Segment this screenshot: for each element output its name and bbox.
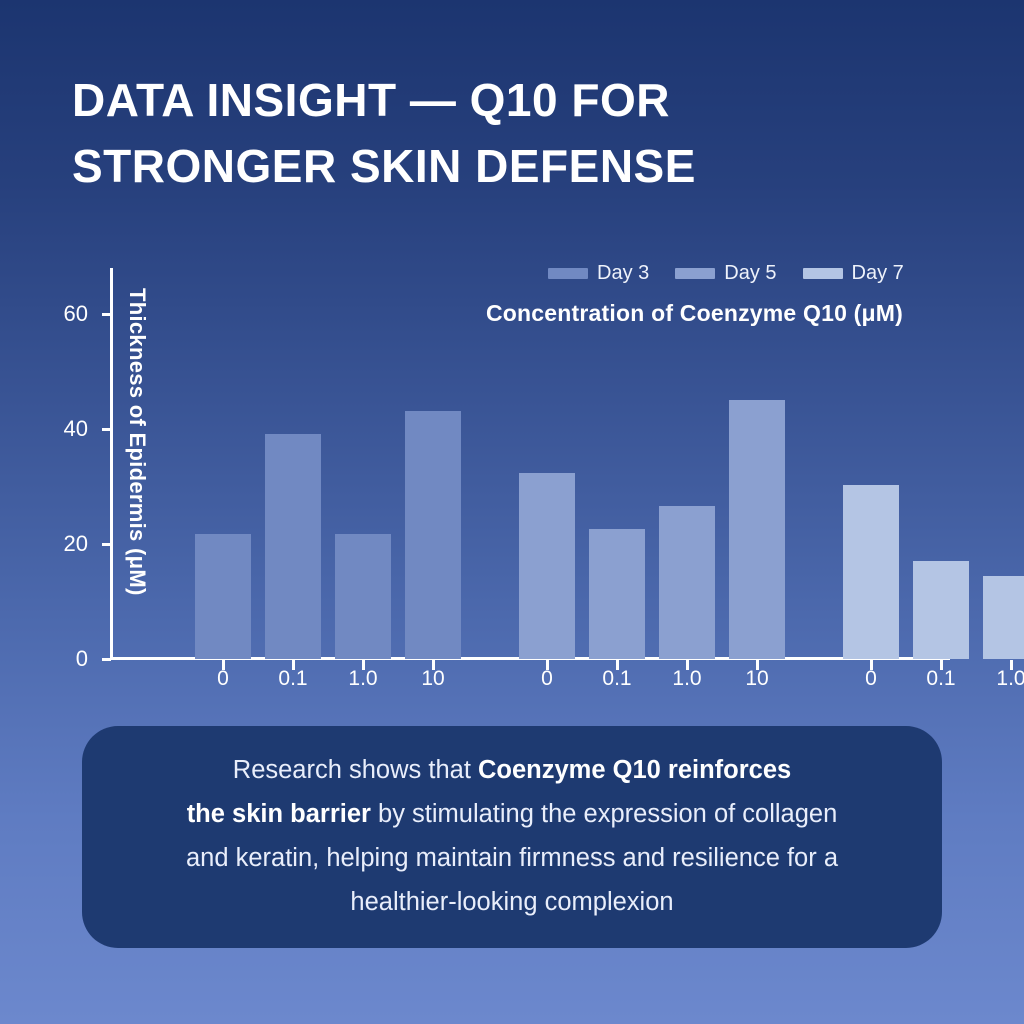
x-tick-label: 0.1 (906, 668, 976, 689)
bar-day5-0.1 (589, 529, 645, 659)
y-tick-mark (102, 428, 111, 431)
caption-text-2b: by stimulating the expression of collage… (371, 800, 837, 828)
x-tick-mark (1010, 660, 1013, 670)
bar-day5-10 (729, 400, 785, 659)
bar-day7-0 (843, 485, 899, 659)
x-tick-mark (546, 660, 549, 670)
caption-text-1b: Coenzyme Q10 reinforces (478, 756, 791, 784)
caption-line-3: and keratin, helping maintain firmness a… (186, 837, 838, 881)
x-axis-line (110, 657, 950, 660)
x-tick-mark (222, 660, 225, 670)
x-tick-label: 10 (722, 668, 792, 689)
y-tick-mark (102, 313, 111, 316)
bar-day7-1.0 (983, 576, 1024, 659)
bar-day3-1.0 (335, 534, 391, 659)
bar-day3-0 (195, 534, 251, 659)
x-tick-mark (362, 660, 365, 670)
x-tick-label: 0.1 (582, 668, 652, 689)
x-tick-label: 1.0 (328, 668, 398, 689)
y-tick-label-wrap: 0 (24, 648, 88, 670)
legend-swatch-day3 (548, 268, 588, 279)
caption-line-1: Research shows that Coenzyme Q10 reinfor… (233, 749, 791, 793)
x-tick-mark (756, 660, 759, 670)
caption-line-2: the skin barrier by stimulating the expr… (187, 793, 838, 837)
bar-day7-0.1 (913, 561, 969, 659)
x-tick-mark (616, 660, 619, 670)
x-tick-mark (870, 660, 873, 670)
plot-area (113, 268, 950, 659)
y-tick-label: 0 (28, 648, 88, 670)
bar-day3-0.1 (265, 434, 321, 659)
y-axis-line (110, 268, 113, 660)
legend-swatch-day7 (803, 268, 843, 279)
x-tick-mark (432, 660, 435, 670)
y-tick-mark (102, 543, 111, 546)
y-tick-mark (102, 658, 111, 661)
legend-label-day3: Day 3 (597, 263, 649, 283)
bar-day5-1.0 (659, 506, 715, 659)
y-tick-label: 20 (28, 533, 88, 555)
legend-label-day7: Day 7 (852, 263, 904, 283)
legend-item-day3: Day 3 (548, 263, 649, 283)
x-tick-label: 0 (188, 668, 258, 689)
caption-text-2a: the skin barrier (187, 800, 371, 828)
x-tick-mark (686, 660, 689, 670)
caption-box: Research shows that Coenzyme Q10 reinfor… (82, 726, 942, 948)
y-tick-label-wrap: 40 (24, 418, 88, 440)
y-tick-label: 40 (28, 418, 88, 440)
legend-item-day7: Day 7 (803, 263, 904, 283)
x-tick-label: 0.1 (258, 668, 328, 689)
legend-swatch-day5 (675, 268, 715, 279)
x-tick-label: 0 (836, 668, 906, 689)
y-tick-label-wrap: 60 (24, 303, 88, 325)
caption-text-1a: Research shows that (233, 756, 478, 784)
page-title: Data Insight — Q10 for Stronger Skin Def… (72, 68, 872, 200)
y-tick-label-wrap: 20 (24, 533, 88, 555)
chart-legend: Day 3 Day 5 Day 7 (548, 262, 904, 284)
x-tick-label: 10 (398, 668, 468, 689)
caption-line-4: healthier-looking complexion (350, 881, 673, 925)
bar-day3-10 (405, 411, 461, 659)
legend-item-day5: Day 5 (675, 263, 776, 283)
legend-label-day5: Day 5 (724, 263, 776, 283)
x-tick-mark (940, 660, 943, 670)
y-tick-label: 60 (28, 303, 88, 325)
x-tick-mark (292, 660, 295, 670)
x-tick-label: 1.0 (976, 668, 1024, 689)
x-axis-title: Concentration of Coenzyme Q10 (μM) (486, 300, 903, 327)
y-axis-title: Thickness of Epidermis (μM) (120, 288, 150, 628)
x-tick-label: 0 (512, 668, 582, 689)
x-tick-label: 1.0 (652, 668, 722, 689)
bar-day5-0 (519, 473, 575, 659)
